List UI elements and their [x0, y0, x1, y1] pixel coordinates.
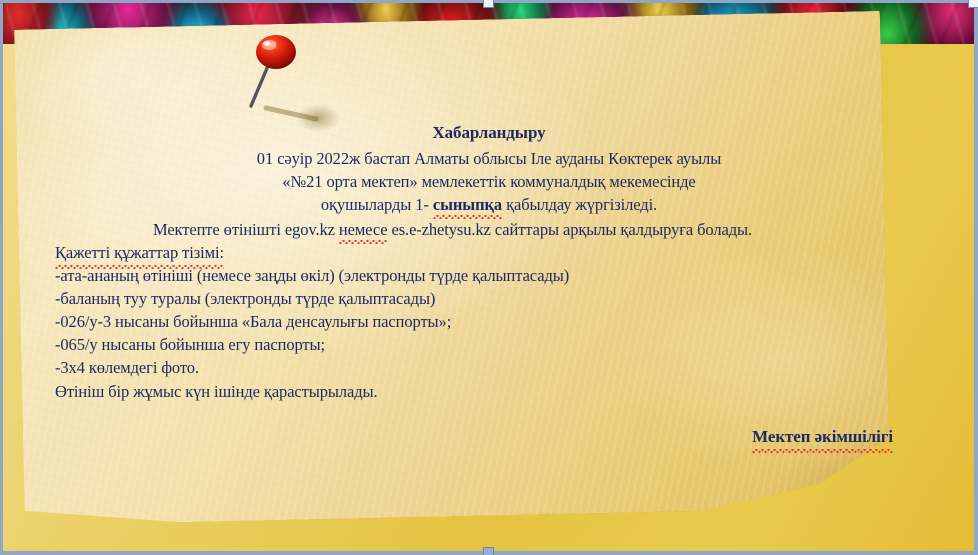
announcement-line-school-name: «№21 орта мектеп» мемлекеттік коммуналды… — [0, 170, 978, 193]
slide-frame-left-edge — [0, 0, 3, 555]
sites-text-after: es.e-zhetysu.kz сайттары арқылы қалдыруғ… — [387, 220, 752, 239]
enrollment-text-before: оқушыларды 1- — [321, 195, 433, 214]
resize-handle-top-middle[interactable] — [483, 0, 494, 8]
resize-handle-top-right[interactable] — [968, 0, 978, 8]
documents-list-heading: Қажетті құжаттар тізімі: — [55, 241, 224, 264]
document-item: -065/у нысаны бойынша егу паспорты; — [55, 333, 325, 356]
announcement-text-block: Хабарландыру 01 сәуір 2022ж бастап Алмат… — [0, 0, 978, 555]
announcement-line-enrollment: оқушыларды 1- сыныпқа қабылдау жүргізіле… — [0, 193, 978, 216]
resize-handle-bottom-middle[interactable] — [483, 547, 494, 555]
documents-heading-text: Қажетті құжаттар тізімі: — [55, 241, 224, 264]
document-item: -баланың туу туралы (электронды түрде қа… — [55, 287, 435, 310]
sites-keyword-or: немесе — [339, 218, 388, 241]
announcement-line-application-sites: Мектепте өтінішті egov.kz немесе es.e-zh… — [0, 218, 905, 241]
announcement-line-date-location: 01 сәуір 2022ж бастап Алматы облысы Іле … — [0, 147, 978, 170]
announcement-title: Хабарландыру — [0, 121, 978, 144]
slide-frame-right-edge — [974, 0, 978, 555]
document-item: -026/у-3 нысаны бойынша «Бала денсаулығы… — [55, 310, 451, 333]
sites-text-before: Мектепте өтінішті egov.kz — [153, 220, 339, 239]
signature-text: Мектеп әкімшілігі — [752, 425, 893, 448]
announcement-signature: Мектеп әкімшілігі — [0, 425, 978, 448]
document-item: -3х4 көлемдегі фото. — [55, 356, 199, 379]
presentation-slide: Хабарландыру 01 сәуір 2022ж бастап Алмат… — [0, 0, 978, 555]
document-item: -ата-ананың өтініші (немесе заңды өкіл) … — [55, 264, 569, 287]
enrollment-keyword-grade: сыныпқа — [433, 193, 502, 216]
enrollment-text-after: қабылдау жүргізіледі. — [502, 195, 657, 214]
announcement-closing-note: Өтініш бір жұмыс күн ішінде қарастырылад… — [55, 380, 378, 403]
